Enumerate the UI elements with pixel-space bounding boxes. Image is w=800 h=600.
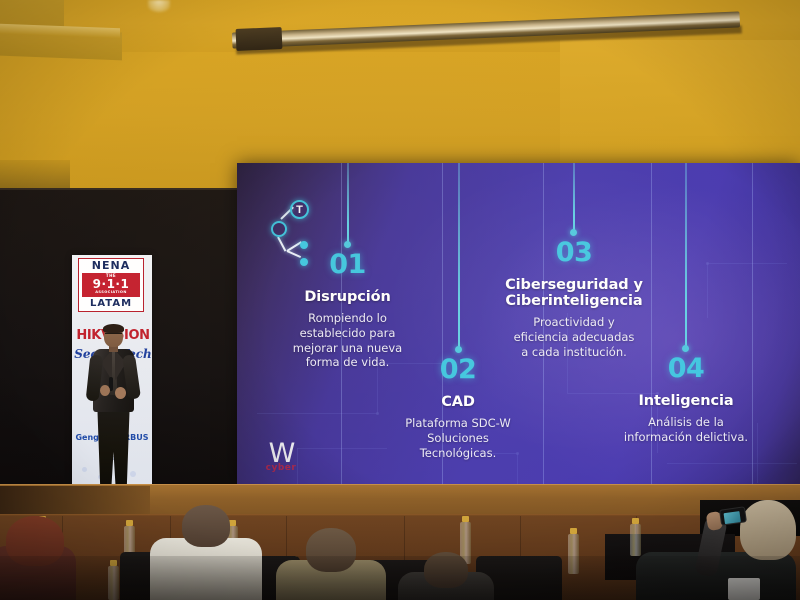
step-desc-04: Análisis de la información delictiva. xyxy=(615,415,757,444)
water-bottle xyxy=(630,524,641,556)
slide-step-03: 03 Ciberseguridad y Ciberinteligencia Pr… xyxy=(499,239,649,360)
slide-step-04: 04 Inteligencia Análisis de la informaci… xyxy=(615,355,757,445)
step-title-01: Disrupción xyxy=(275,289,420,305)
connector-dot-01 xyxy=(344,241,351,248)
phone-screen xyxy=(723,511,740,524)
ceiling-light-icon xyxy=(148,0,170,12)
presenter-legs xyxy=(96,409,131,487)
step-title-03: Ciberseguridad y Ciberinteligencia xyxy=(499,277,649,309)
connector-line-01 xyxy=(347,163,349,244)
step-number-04: 04 xyxy=(615,355,757,382)
network-node-circle xyxy=(271,221,287,237)
connector-line-03 xyxy=(573,163,575,232)
step-number-02: 02 xyxy=(387,356,529,383)
step-title-02: CAD xyxy=(387,394,529,410)
nena-logo: NENA THE 9·1·1 ASSOCIATION LATAM xyxy=(78,258,144,312)
step-desc-02: Plataforma SDC-W Soluciones Tecnológicas… xyxy=(387,416,529,460)
slide-brand-logo: W cyber xyxy=(251,443,311,473)
glasses-icon xyxy=(105,333,122,337)
network-leaf-dot xyxy=(300,241,308,249)
nena-logo-911: THE 9·1·1 ASSOCIATION xyxy=(82,273,140,297)
connector-dot-03 xyxy=(570,229,577,236)
step-title-04: Inteligencia xyxy=(615,393,757,409)
step-number-01: 01 xyxy=(275,251,420,278)
nena-logo-digits: 9·1·1 xyxy=(93,277,130,291)
connector-dot-04 xyxy=(682,345,689,352)
presenter-hand-right xyxy=(115,387,126,399)
connector-line-02 xyxy=(458,163,460,349)
step-number-03: 03 xyxy=(499,239,649,266)
step-desc-03: Proactividad y eficiencia adecuadas a ca… xyxy=(499,315,649,359)
slide-step-01: 01 Disrupción Rompiendo lo establecido p… xyxy=(275,251,420,370)
ceiling-rail-box xyxy=(236,27,283,51)
nena-logo-top: NENA xyxy=(79,260,143,272)
right-wall xyxy=(560,40,800,170)
connector-dot-02 xyxy=(455,346,462,353)
presenter-hand-left xyxy=(100,385,110,396)
network-node-t-label: T xyxy=(290,200,309,219)
slide-step-02: 02 CAD Plataforma SDC-W Soluciones Tecno… xyxy=(387,356,529,460)
presentation-slide: T 01 Disrupción Rompiendo lo establecido… xyxy=(237,163,800,485)
nena-logo-bottom: LATAM xyxy=(79,298,143,309)
presenter-hair xyxy=(103,324,124,333)
conference-photo-scene: T 01 Disrupción Rompiendo lo establecido… xyxy=(0,0,800,600)
foreground-shadow xyxy=(0,556,800,600)
cyber-wordmark: cyber xyxy=(251,463,311,473)
presenter-person xyxy=(84,325,142,497)
nena-logo-association: ASSOCIATION xyxy=(82,290,140,295)
connector-line-04 xyxy=(685,163,687,348)
